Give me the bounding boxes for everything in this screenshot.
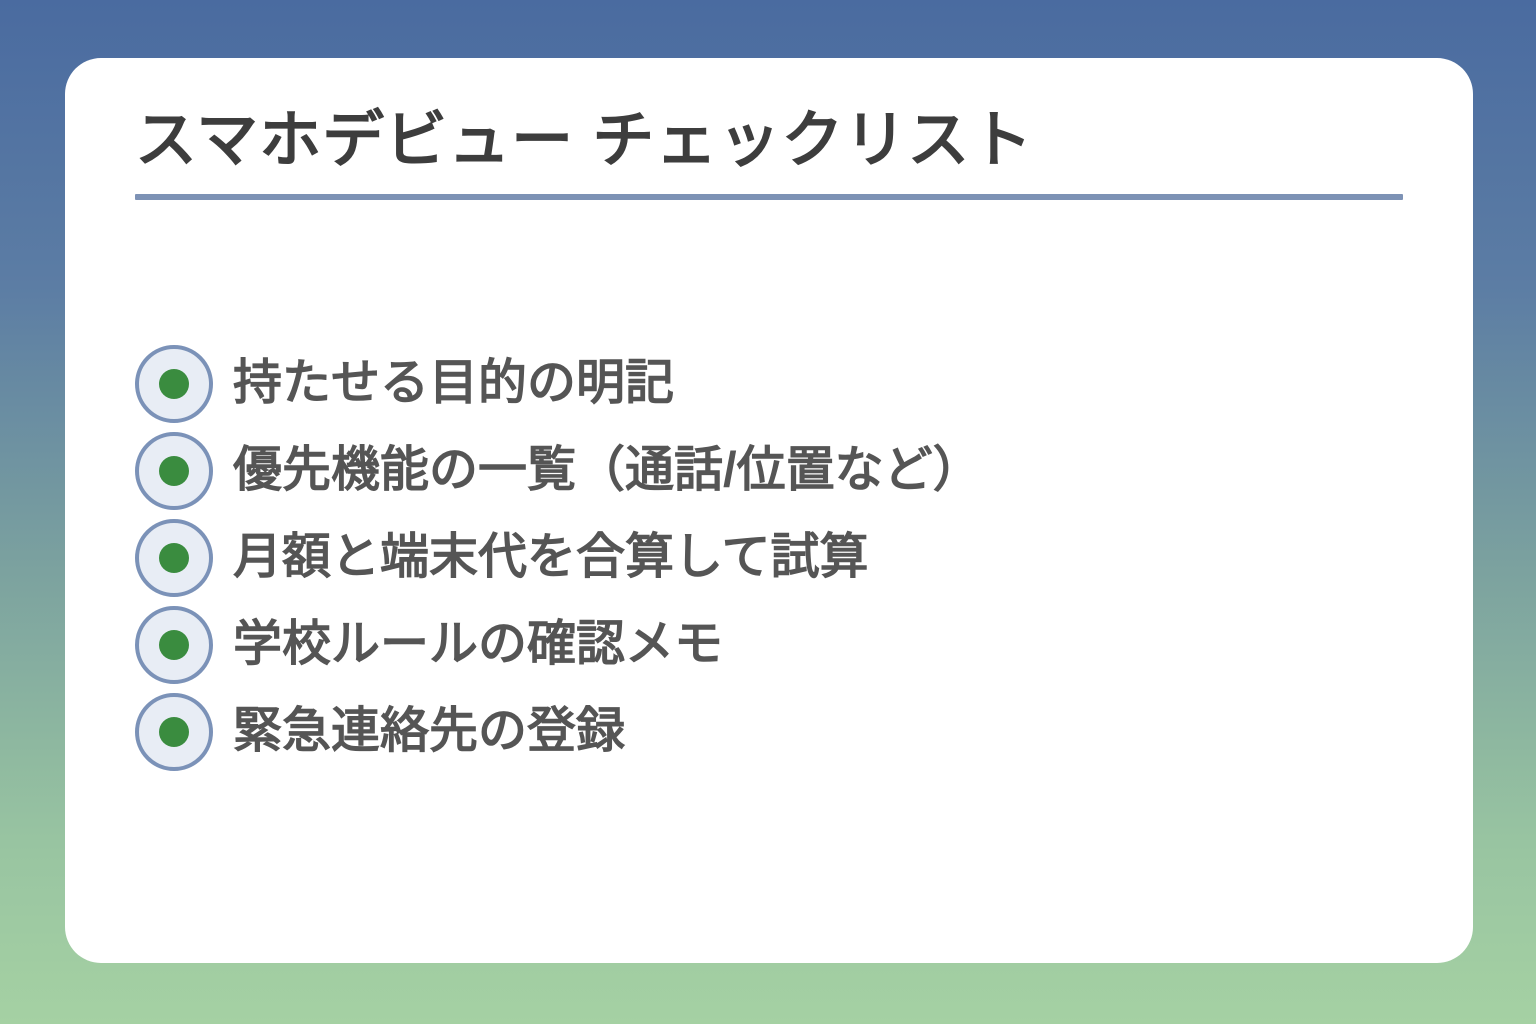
bullet-dot-icon	[159, 543, 189, 573]
list-item-label: 月額と端末代を合算して試算	[233, 531, 869, 585]
list-item-label: 優先機能の一覧（通話/位置など）	[233, 444, 982, 498]
list-item[interactable]: 学校ルールの確認メモ	[135, 601, 1415, 688]
title-underline-rule	[135, 194, 1403, 200]
list-item[interactable]: 優先機能の一覧（通話/位置など）	[135, 427, 1415, 514]
bullet-circle-icon	[135, 345, 213, 423]
bullet-circle-icon	[135, 606, 213, 684]
list-item-label: 緊急連絡先の登録	[233, 705, 625, 759]
bullet-dot-icon	[159, 717, 189, 747]
bullet-dot-icon	[159, 369, 189, 399]
page-title: スマホデビュー チェックリスト	[135, 102, 1405, 180]
list-item[interactable]: 月額と端末代を合算して試算	[135, 514, 1415, 601]
bullet-dot-icon	[159, 456, 189, 486]
slide-root: スマホデビュー チェックリスト 持たせる目的の明記 優先機能の一覧（通話/位置な…	[0, 0, 1536, 1024]
content-card: スマホデビュー チェックリスト 持たせる目的の明記 優先機能の一覧（通話/位置な…	[65, 58, 1473, 963]
checklist: 持たせる目的の明記 優先機能の一覧（通話/位置など） 月額と端末代を合算して試算…	[135, 340, 1415, 775]
list-item[interactable]: 持たせる目的の明記	[135, 340, 1415, 427]
bullet-dot-icon	[159, 630, 189, 660]
list-item-label: 学校ルールの確認メモ	[233, 618, 723, 672]
list-item-label: 持たせる目的の明記	[233, 357, 674, 411]
bullet-circle-icon	[135, 519, 213, 597]
list-item[interactable]: 緊急連絡先の登録	[135, 688, 1415, 775]
title-block: スマホデビュー チェックリスト	[135, 102, 1405, 200]
bullet-circle-icon	[135, 693, 213, 771]
bullet-circle-icon	[135, 432, 213, 510]
